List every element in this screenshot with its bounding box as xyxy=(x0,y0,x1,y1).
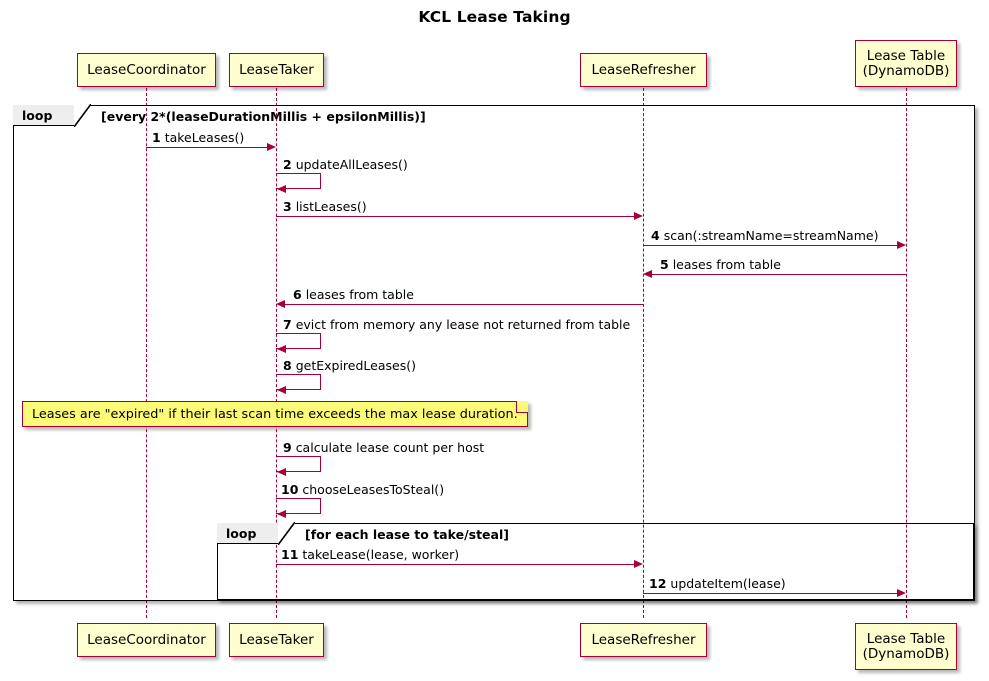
participant-leaserefresher-bottom[interactable]: LeaseRefresher xyxy=(580,623,707,657)
participant-label: LeaseCoordinator xyxy=(87,63,206,78)
message-9-number: 9 xyxy=(283,440,292,455)
message-10-text: chooseLeasesToSteal() xyxy=(302,482,444,497)
message-10-arrowhead-icon xyxy=(277,510,286,518)
diagram-title: KCL Lease Taking xyxy=(0,8,989,26)
message-8-text: getExpiredLeases() xyxy=(296,358,416,373)
message-4-number: 4 xyxy=(651,228,660,243)
participant-leasetaker-top[interactable]: LeaseTaker xyxy=(229,53,324,87)
participant-label: LeaseRefresher xyxy=(591,633,695,648)
message-5-arrowhead-icon xyxy=(643,270,652,278)
frame-tab-corner-icon xyxy=(278,522,295,545)
note-fold-corner-icon xyxy=(516,401,528,413)
message-4-arrowhead-icon xyxy=(897,241,906,249)
message-9-label: 9 calculate lease count per host xyxy=(283,440,484,455)
message-1-arrowhead-icon xyxy=(267,143,276,151)
message-7-label: 7 evict from memory any lease not return… xyxy=(283,317,630,332)
frame-inner-loop-tab: loop xyxy=(217,523,295,544)
message-5-line xyxy=(652,274,906,275)
participant-lease-table-bottom[interactable]: Lease Table (DynamoDB) xyxy=(855,623,957,670)
frame-tab-corner-icon xyxy=(74,104,91,127)
message-12-label: 12 updateItem(lease) xyxy=(649,576,786,591)
participant-leasecoordinator-bottom[interactable]: LeaseCoordinator xyxy=(77,623,216,657)
message-8-arrowhead-icon xyxy=(277,386,286,394)
message-5-text: leases from table xyxy=(673,257,781,272)
message-2-text: updateAllLeases() xyxy=(296,157,408,172)
participant-label: LeaseTaker xyxy=(239,63,314,78)
message-9-arrowhead-icon xyxy=(277,468,286,476)
message-12-line xyxy=(643,593,898,594)
frame-inner-loop-condition: [for each lease to take/steal] xyxy=(305,527,509,542)
message-10-label: 10 chooseLeasesToSteal() xyxy=(281,482,444,497)
message-3-number: 3 xyxy=(283,199,292,214)
message-2-arrowhead-icon xyxy=(277,185,286,193)
sequence-diagram-canvas: KCL Lease Taking LeaseCoordinator LeaseT… xyxy=(0,0,989,681)
message-11-number: 11 xyxy=(281,547,298,562)
message-9-text: calculate lease count per host xyxy=(296,440,484,455)
frame-outer-loop-tab: loop xyxy=(13,105,91,126)
note-expired-leases: Leases are "expired" if their last scan … xyxy=(22,401,528,427)
participant-leaserefresher-top[interactable]: LeaseRefresher xyxy=(580,53,707,87)
message-7-number: 7 xyxy=(283,317,292,332)
message-11-line xyxy=(276,564,635,565)
message-11-arrowhead-icon xyxy=(634,560,643,568)
message-4-text: scan(:streamName=streamName) xyxy=(664,228,879,243)
message-3-line xyxy=(276,216,635,217)
participant-label: Lease Table (DynamoDB) xyxy=(863,632,950,662)
message-6-line xyxy=(285,304,643,305)
participant-label: LeaseRefresher xyxy=(591,63,695,78)
frame-inner-loop-label: loop xyxy=(217,526,256,541)
message-12-arrowhead-icon xyxy=(897,589,906,597)
participant-label: Lease Table (DynamoDB) xyxy=(863,49,950,79)
message-8-number: 8 xyxy=(283,358,292,373)
message-7-arrowhead-icon xyxy=(277,345,286,353)
message-11-label: 11 takeLease(lease, worker) xyxy=(281,547,459,562)
message-2-label: 2 updateAllLeases() xyxy=(283,157,408,172)
frame-outer-loop-label: loop xyxy=(13,108,52,123)
message-1-label: 1 takeLeases() xyxy=(152,130,244,145)
message-3-text: listLeases() xyxy=(296,199,367,214)
message-8-label: 8 getExpiredLeases() xyxy=(283,358,416,373)
message-4-line xyxy=(643,245,898,246)
message-6-label: 6 leases from table xyxy=(293,287,414,302)
message-12-text: updateItem(lease) xyxy=(670,576,785,591)
message-11-text: takeLease(lease, worker) xyxy=(302,547,459,562)
note-text: Leases are "expired" if their last scan … xyxy=(32,407,518,422)
message-1-line xyxy=(146,147,268,148)
message-5-number: 5 xyxy=(660,257,669,272)
participant-label: LeaseTaker xyxy=(239,633,314,648)
message-3-arrowhead-icon xyxy=(634,212,643,220)
frame-outer-loop-condition: [every 2*(leaseDurationMillis + epsilonM… xyxy=(101,109,426,124)
message-6-number: 6 xyxy=(293,287,302,302)
participant-label: LeaseCoordinator xyxy=(87,633,206,648)
message-12-number: 12 xyxy=(649,576,666,591)
participant-leasetaker-bottom[interactable]: LeaseTaker xyxy=(229,623,324,657)
message-4-label: 4 scan(:streamName=streamName) xyxy=(651,228,878,243)
message-10-number: 10 xyxy=(281,482,298,497)
message-6-arrowhead-icon xyxy=(276,300,285,308)
message-1-number: 1 xyxy=(152,130,161,145)
message-6-text: leases from table xyxy=(306,287,414,302)
message-2-number: 2 xyxy=(283,157,292,172)
participant-lease-table-top[interactable]: Lease Table (DynamoDB) xyxy=(855,40,957,87)
message-5-label: 5 leases from table xyxy=(660,257,781,272)
participant-leasecoordinator-top[interactable]: LeaseCoordinator xyxy=(77,53,216,87)
message-7-text: evict from memory any lease not returned… xyxy=(296,317,631,332)
message-3-label: 3 listLeases() xyxy=(283,199,367,214)
message-1-text: takeLeases() xyxy=(165,130,245,145)
